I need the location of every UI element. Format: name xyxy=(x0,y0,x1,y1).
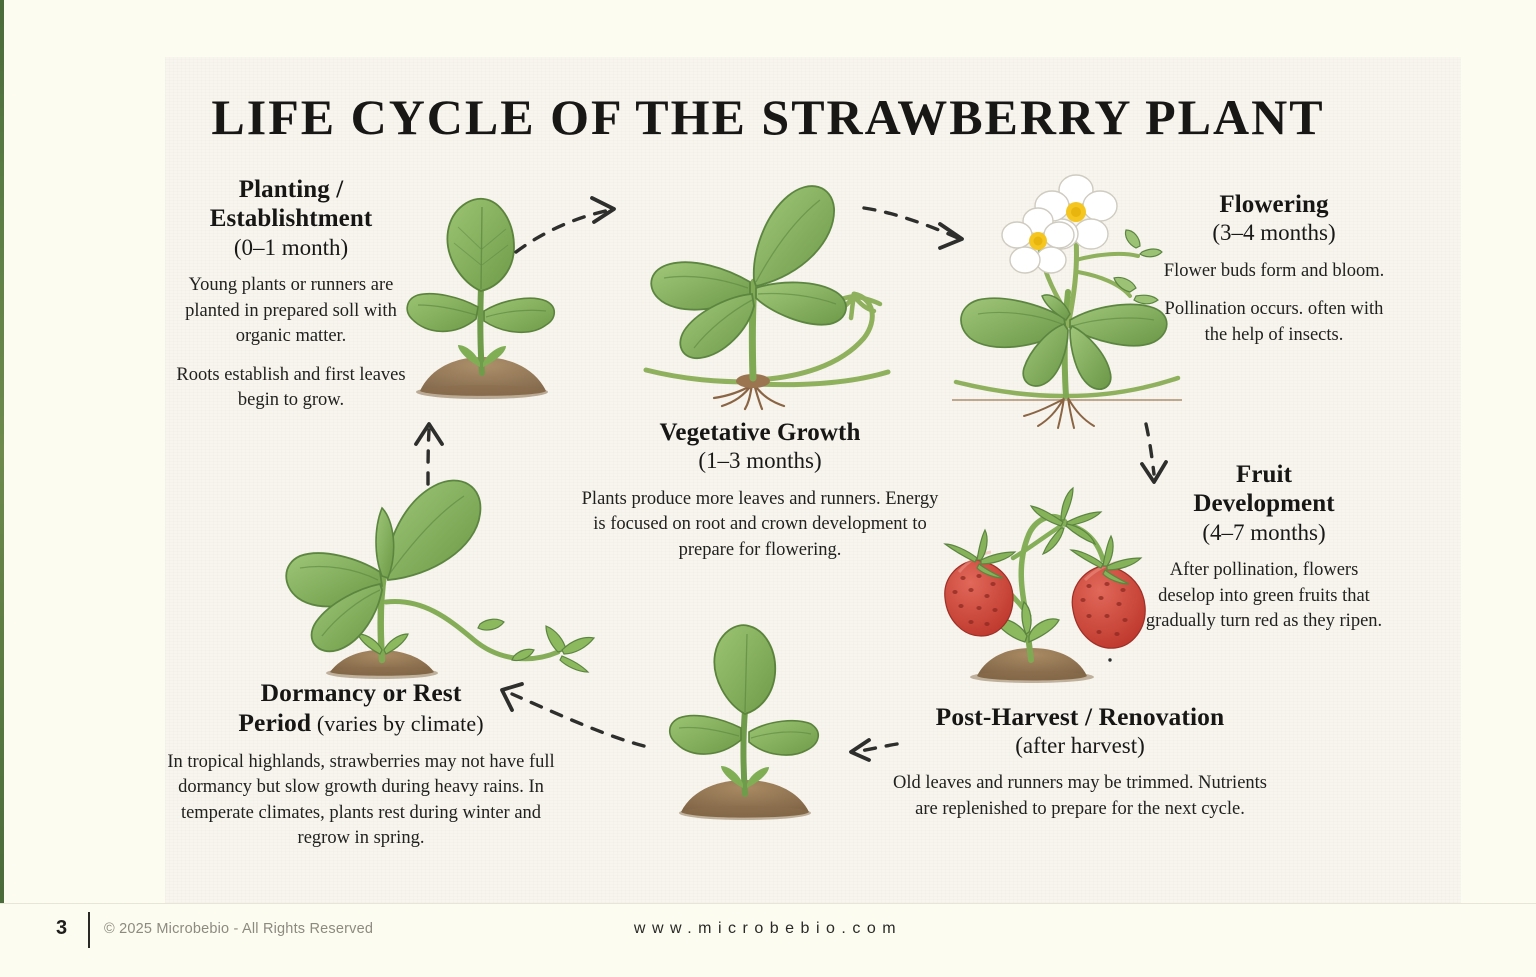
strawberry-fruit xyxy=(1071,536,1145,648)
stage-planting-paragraph: Roots establish and first leaves begin t… xyxy=(172,363,410,414)
runner-plant-illustration xyxy=(282,472,612,692)
stage-fruit-heading-line1: Fruit xyxy=(1236,461,1292,488)
website-url[interactable]: www.microbebio.com xyxy=(0,920,1536,938)
stage-planting: Planting / Establishtment (0–1 month) Yo… xyxy=(172,175,410,414)
stage-flowering: Flowering (3–4 months) Flower buds form … xyxy=(1158,190,1390,348)
stage-planting-heading-line2: Establishtment xyxy=(210,205,373,232)
stage-postharvest: Post-Harvest / Renovation (after harvest… xyxy=(880,702,1280,822)
stage-planting-body: Young plants or runners are planted in p… xyxy=(172,273,410,414)
stage-planting-heading-line1: Planting / xyxy=(239,176,344,203)
stage-fruit-body: After pollination, flowers deselop into … xyxy=(1140,558,1388,635)
stage-planting-paragraph: Young plants or runners are planted in p… xyxy=(172,273,410,350)
stage-dormancy-heading-line1: Dormancy or Rest xyxy=(261,678,462,707)
stage-postharvest-paragraph: Old leaves and runners may be trimmed. N… xyxy=(880,771,1280,822)
stage-planting-heading: Planting / Establishtment xyxy=(172,175,410,234)
arrow-fruit-to-postharvest xyxy=(1110,660,1170,700)
stage-postharvest-period: (after harvest) xyxy=(880,732,1280,760)
stage-fruit-period: (4–7 months) xyxy=(1140,519,1388,547)
stage-vegetative-paragraph: Plants produce more leaves and runners. … xyxy=(580,487,940,564)
stage-dormancy-period: (varies by climate) xyxy=(311,711,483,736)
stage-flowering-heading: Flowering xyxy=(1158,190,1390,219)
flower-bud xyxy=(1114,230,1162,304)
infographic-page: LIFE CYCLE OF THE STRAWBERRY PLANT xyxy=(0,0,1536,977)
stage-flowering-body: Flower buds form and bloom. Pollination … xyxy=(1158,259,1390,349)
stage-postharvest-heading: Post-Harvest / Renovation xyxy=(880,702,1280,732)
stage-fruit-heading: Fruit Development xyxy=(1140,460,1388,519)
stage-dormancy-heading-line2: Period xyxy=(238,708,311,737)
stage-dormancy-paragraph: In tropical highlands, strawberries may … xyxy=(160,750,562,852)
stage-dormancy: Dormancy or Rest Period (varies by clima… xyxy=(160,678,562,852)
runner-plantlet xyxy=(546,626,594,672)
stage-dormancy-heading: Dormancy or Rest Period (varies by clima… xyxy=(160,678,562,738)
arrow-vegetative-to-flowering xyxy=(860,198,980,258)
stage-postharvest-body: Old leaves and runners may be trimmed. N… xyxy=(880,771,1280,822)
footer-divider-line xyxy=(0,903,1536,904)
stage-flowering-period: (3–4 months) xyxy=(1158,219,1390,247)
stage-fruit-heading-line2: Development xyxy=(1193,490,1334,517)
stage-fruit-paragraph: After pollination, flowers deselop into … xyxy=(1140,558,1388,635)
stage-vegetative-heading: Vegetative Growth xyxy=(580,418,940,447)
stage-flowering-paragraph: Pollination occurs. often with the help … xyxy=(1158,297,1390,348)
stage-dormancy-body: In tropical highlands, strawberries may … xyxy=(160,750,562,852)
page-title: LIFE CYCLE OF THE STRAWBERRY PLANT xyxy=(0,88,1536,146)
arrow-planting-to-vegetative xyxy=(510,192,630,262)
flowering-plant-illustration xyxy=(952,168,1182,436)
strawberry-fruit xyxy=(945,530,1015,636)
stage-fruit: Fruit Development (4–7 months) After pol… xyxy=(1140,460,1388,635)
stage-flowering-paragraph: Flower buds form and bloom. xyxy=(1158,259,1390,285)
stage-vegetative: Vegetative Growth (1–3 months) Plants pr… xyxy=(580,418,940,563)
stage-planting-period: (0–1 month) xyxy=(172,234,410,262)
page-footer: 3 © 2025 Microbebio - All Rights Reserve… xyxy=(0,903,1536,977)
arrow-dormancy-to-planting xyxy=(404,418,454,488)
stage-vegetative-body: Plants produce more leaves and runners. … xyxy=(580,487,940,564)
trimmed-plant-illustration xyxy=(655,618,835,833)
stage-vegetative-period: (1–3 months) xyxy=(580,447,940,475)
